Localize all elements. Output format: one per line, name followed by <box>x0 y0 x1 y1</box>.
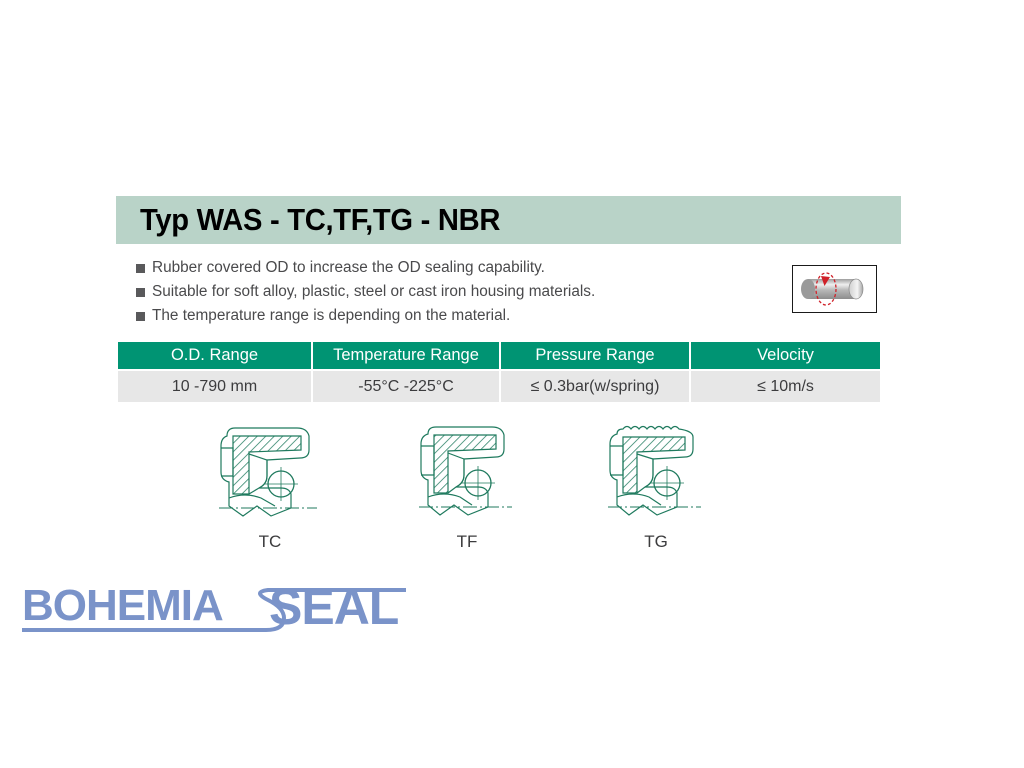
column-header-velocity: Velocity <box>691 342 880 369</box>
feature-text: The temperature range is depending on th… <box>152 306 510 326</box>
logo-word-bohemia: BOHEMIA <box>22 581 223 630</box>
feature-text: Rubber covered OD to increase the OD sea… <box>152 258 545 278</box>
square-bullet-icon <box>136 312 145 321</box>
column-header-pressure-range: Pressure Range <box>501 342 689 369</box>
cell-velocity: ≤ 10m/s <box>691 371 880 402</box>
feature-text: Suitable for soft alloy, plastic, steel … <box>152 282 595 302</box>
square-bullet-icon <box>136 288 145 297</box>
seal-label: TC <box>205 532 335 552</box>
list-item: Rubber covered OD to increase the OD sea… <box>136 258 756 278</box>
cell-pressure-range: ≤ 0.3bar(w/spring) <box>501 371 689 402</box>
rotating-shaft-icon <box>792 265 877 313</box>
seal-label: TF <box>408 532 526 552</box>
page-title: Typ WAS - TC,TF,TG - NBR <box>140 202 500 238</box>
logo-word-seal: SEAL <box>269 579 398 635</box>
seal-label: TG <box>597 532 715 552</box>
cell-temp-range: -55°C -225°C <box>313 371 499 402</box>
seal-cross-section-icon <box>597 420 715 525</box>
cell-od-range: 10 -790 mm <box>118 371 311 402</box>
list-item: The temperature range is depending on th… <box>136 306 756 326</box>
seal-diagram-tc: TC <box>205 420 335 552</box>
seal-cross-section-icon <box>205 420 335 525</box>
table-row: 10 -790 mm -55°C -225°C ≤ 0.3bar(w/sprin… <box>118 371 880 402</box>
column-header-od-range: O.D. Range <box>118 342 311 369</box>
seal-cross-section-icon <box>408 420 526 525</box>
seal-diagram-tf: TF <box>408 420 526 552</box>
feature-list: Rubber covered OD to increase the OD sea… <box>136 258 756 330</box>
specification-table: O.D. Range Temperature Range Pressure Ra… <box>116 340 882 404</box>
square-bullet-icon <box>136 264 145 273</box>
table-header-row: O.D. Range Temperature Range Pressure Ra… <box>118 342 880 369</box>
product-title-bar: Typ WAS - TC,TF,TG - NBR <box>116 196 901 244</box>
seal-diagram-tg: TG <box>597 420 715 552</box>
column-header-temp-range: Temperature Range <box>313 342 499 369</box>
list-item: Suitable for soft alloy, plastic, steel … <box>136 282 756 302</box>
bohemia-seal-logo: BOHEMIA SEAL <box>16 578 416 640</box>
